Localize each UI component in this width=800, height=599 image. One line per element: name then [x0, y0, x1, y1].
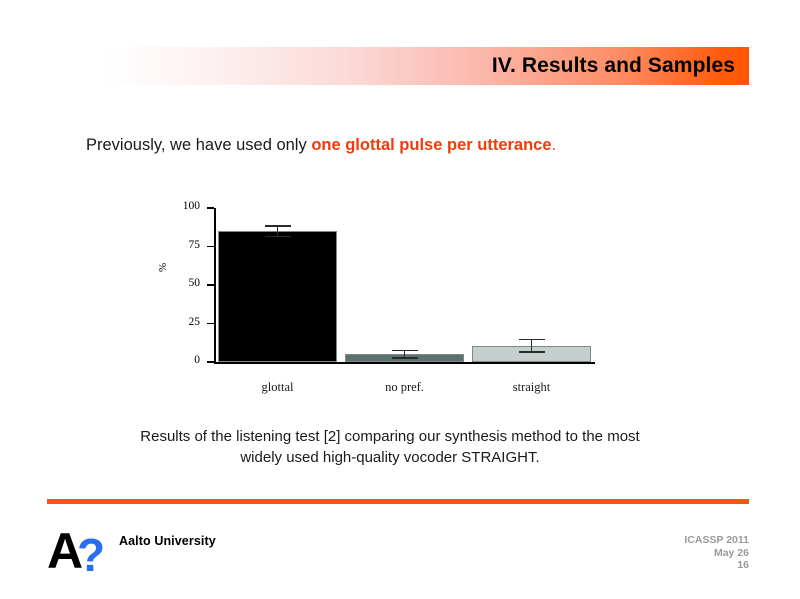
chart-y-axis-label: % [157, 263, 169, 272]
chart-error-bar-cap [519, 351, 545, 353]
footer-divider [47, 499, 749, 504]
intro-emphasis-text: one glottal pulse per utterance [311, 136, 551, 154]
footer-meta: ICASSP 2011 May 26 16 [684, 534, 749, 572]
chart-y-tick-mark [207, 207, 214, 208]
chart-y-tick-label: 50 [166, 277, 200, 289]
chart-error-bar-cap [519, 339, 545, 341]
intro-lead-text: Previously, we have used only [86, 136, 311, 154]
chart-error-bar-cap [392, 357, 418, 359]
chart-y-tick-mark [207, 284, 214, 285]
chart-bar [218, 231, 336, 362]
chart-x-tick-label: straight [513, 380, 551, 395]
intro-trailing-text: . [552, 136, 557, 154]
aalto-wordmark: Aalto University [119, 534, 216, 548]
chart-error-bar-stem [531, 340, 533, 352]
footer-date: May 26 [684, 547, 749, 560]
caption-line-1: Results of the listening test [2] compar… [80, 426, 700, 447]
chart-error-bar-cap [392, 350, 418, 352]
caption-line-2: widely used high-quality vocoder STRAIGH… [80, 447, 700, 468]
chart-y-tick-label: 25 [166, 316, 200, 328]
chart-x-tick-label: no pref. [385, 380, 424, 395]
intro-statement: Previously, we have used only one glotta… [86, 136, 556, 155]
bar-chart: 0255075100glottalno pref.straight [150, 196, 610, 408]
page-title: IV. Results and Samples [492, 54, 735, 78]
chart-y-tick-label: 100 [166, 200, 200, 212]
title-banner: IV. Results and Samples [103, 47, 749, 85]
chart-y-axis [214, 208, 216, 362]
footer-conference: ICASSP 2011 [684, 534, 749, 547]
aalto-logo-icon: A ? [47, 525, 111, 573]
slide-canvas: IV. Results and Samples Previously, we h… [0, 0, 800, 599]
chart-error-bar-cap [265, 225, 291, 227]
chart-y-tick-mark [207, 361, 214, 362]
figure-caption: Results of the listening test [2] compar… [80, 426, 700, 468]
chart-error-bar-cap [265, 236, 291, 238]
aalto-logo-question-mark: ? [77, 529, 105, 573]
footer-page-number: 16 [684, 559, 749, 572]
chart-x-tick-label: glottal [262, 380, 294, 395]
chart-y-tick-label: 75 [166, 239, 200, 251]
chart-y-tick-label: 0 [166, 354, 200, 366]
chart-y-tick-mark [207, 323, 214, 324]
chart-y-tick-mark [207, 246, 214, 247]
chart-x-axis [214, 362, 595, 364]
